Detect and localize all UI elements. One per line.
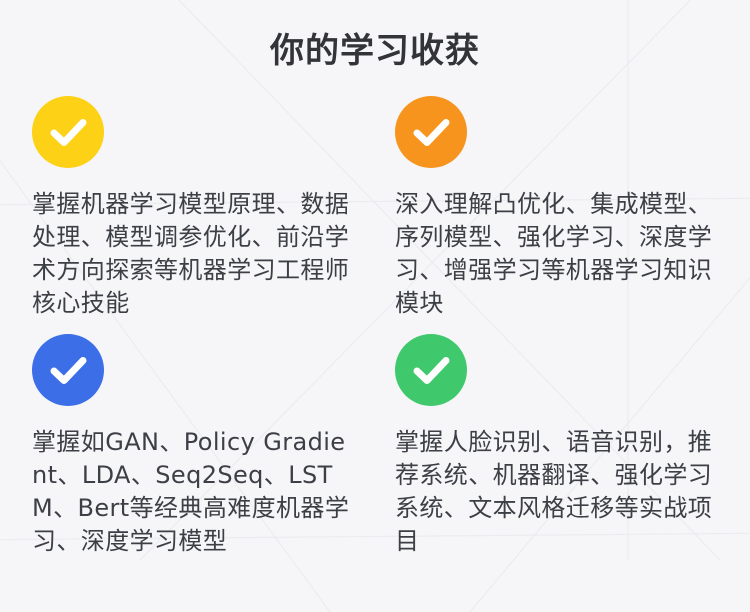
benefit-text: 掌握机器学习模型原理、数据处理、模型调参优化、前沿学术方向探索等机器学习工程师核… <box>32 188 354 320</box>
check-circle-icon <box>395 334 467 406</box>
check-circle-icon <box>395 96 467 168</box>
benefit-item: 掌握机器学习模型原理、数据处理、模型调参优化、前沿学术方向探索等机器学习工程师核… <box>32 96 362 320</box>
check-circle-icon <box>32 96 104 168</box>
benefit-text: 掌握如GAN、Policy Gradient、LDA、Seq2Seq、LSTM、… <box>32 426 354 558</box>
page-title: 你的学习收获 <box>0 28 750 74</box>
check-circle-icon <box>32 334 104 406</box>
benefit-text: 掌握人脸识别、语音识别，推荐系统、机器翻译、强化学习系统、文本风格迁移等实战项目 <box>395 426 717 558</box>
benefit-item: 掌握如GAN、Policy Gradient、LDA、Seq2Seq、LSTM、… <box>32 334 362 558</box>
learning-outcomes-page: 你的学习收获 掌握机器学习模型原理、数据处理、模型调参优化、前沿学术方向探索等机… <box>0 0 750 612</box>
benefit-item: 掌握人脸识别、语音识别，推荐系统、机器翻译、强化学习系统、文本风格迁移等实战项目 <box>395 334 725 558</box>
benefit-item: 深入理解凸优化、集成模型、序列模型、强化学习、深度学习、增强学习等机器学习知识模… <box>395 96 725 320</box>
benefit-text: 深入理解凸优化、集成模型、序列模型、强化学习、深度学习、增强学习等机器学习知识模… <box>395 188 717 320</box>
